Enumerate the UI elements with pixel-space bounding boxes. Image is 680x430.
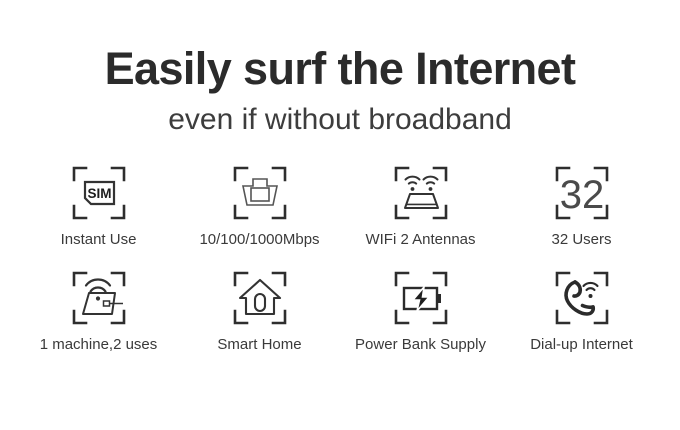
feature-label: Smart Home xyxy=(217,337,301,354)
feature-grid: SIM Instant Use 10/100/1 xyxy=(18,162,662,353)
feature-label: WIFi 2 Antennas xyxy=(365,232,475,249)
feature-item-32-users: 32 32 Users xyxy=(501,162,662,249)
feature-row: 1 machine,2 uses Smart Home xyxy=(18,267,662,354)
feature-label: Instant Use xyxy=(61,232,137,249)
feature-row: SIM Instant Use 10/100/1 xyxy=(18,162,662,249)
feature-item-smart-home: Smart Home xyxy=(179,267,340,354)
feature-item-instant-use: SIM Instant Use xyxy=(18,162,179,249)
sim-card-icon: SIM xyxy=(66,162,132,224)
feature-label: 10/100/1000Mbps xyxy=(199,232,319,249)
feature-label: Power Bank Supply xyxy=(355,337,486,354)
feature-item-power-bank: Power Bank Supply xyxy=(340,267,501,354)
promo-banner: Easily surf the Internet even if without… xyxy=(0,0,680,430)
number-32-text: 32 xyxy=(559,173,604,217)
feature-item-one-machine-two-uses: 1 machine,2 uses xyxy=(18,267,179,354)
sim-card-text: SIM xyxy=(87,186,111,201)
battery-bolt-icon xyxy=(388,267,454,329)
page-title: Easily surf the Internet xyxy=(0,46,680,91)
ethernet-port-icon xyxy=(227,162,293,224)
feature-item-dial-up-internet: Dial-up Internet xyxy=(501,267,662,354)
feature-item-ethernet: 10/100/1000Mbps xyxy=(179,162,340,249)
feature-label: 1 machine,2 uses xyxy=(40,337,158,354)
page-subtitle: even if without broadband xyxy=(0,105,680,135)
number-32-icon: 32 xyxy=(549,162,615,224)
feature-label: Dial-up Internet xyxy=(530,337,633,354)
feature-item-wifi-antennas: WIFi 2 Antennas xyxy=(340,162,501,249)
phone-wifi-icon xyxy=(549,267,615,329)
house-icon xyxy=(227,267,293,329)
heading-block: Easily surf the Internet even if without… xyxy=(0,46,680,135)
router-dual-antenna-icon xyxy=(388,162,454,224)
feature-label: 32 Users xyxy=(551,232,611,249)
router-with-cable-icon xyxy=(66,267,132,329)
